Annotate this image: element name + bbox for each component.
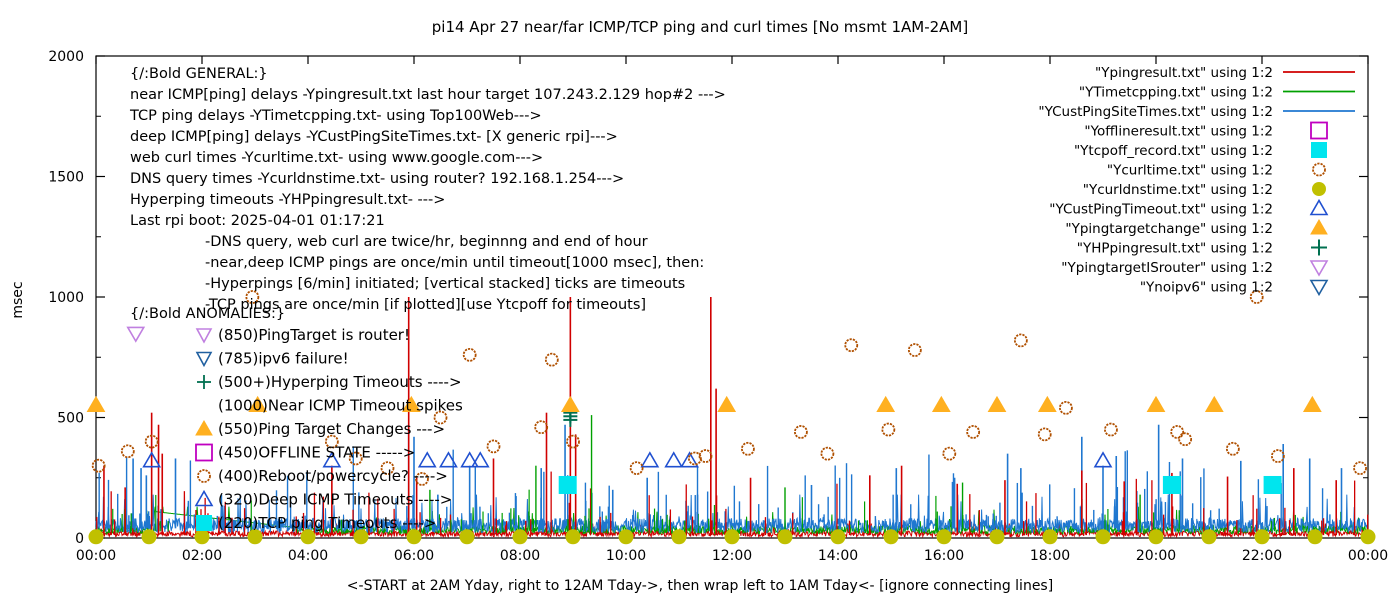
gnuplot-canvas: pi14 Apr 27 near/far ICMP/TCP ping and c… xyxy=(0,0,1400,600)
general-line-0: near ICMP[ping] delays -Ypingresult.txt … xyxy=(130,87,726,103)
x-tick-label: 10:00 xyxy=(606,548,646,564)
anomaly-icon-tcp-timeout xyxy=(196,515,212,531)
legend-label-3: "Yofflineresult.txt" using 1:2 xyxy=(1084,124,1273,140)
anomaly-label-2: (500+)Hyperping Timeouts ----> xyxy=(218,373,462,391)
marker-curl-time xyxy=(1105,424,1117,436)
marker-dns-time xyxy=(1255,530,1269,544)
x-axis-label: <-START at 2AM Yday, right to 12AM Tday-… xyxy=(347,578,1053,594)
x-tick-label: 06:00 xyxy=(394,548,434,564)
marker-dns-time xyxy=(1043,530,1057,544)
marker-deep-icmp-timeout xyxy=(666,453,682,467)
anomaly-label-8: (220)TCP ping Timeouts ----> xyxy=(218,514,436,532)
general-heading: {/:Bold GENERAL:} xyxy=(130,66,268,82)
marker-deep-icmp-timeout xyxy=(419,453,435,467)
marker-curl-time xyxy=(1179,433,1191,445)
marker-curl-time xyxy=(795,426,807,438)
marker-curl-time xyxy=(882,424,894,436)
marker-dns-time xyxy=(1202,530,1216,544)
marker-curl-time xyxy=(967,426,979,438)
legend-label-2: "YCustPingSiteTimes.txt" using 1:2 xyxy=(1038,104,1273,120)
marker-dns-time xyxy=(89,530,103,544)
legend-sample-triangle-down-open xyxy=(1311,261,1327,275)
anomaly-label-6: (400)Reboot/powercycle? ----> xyxy=(218,467,448,485)
marker-curl-time xyxy=(93,460,105,472)
anomaly-label-7: (320)Deep ICMP Timeouts ----> xyxy=(218,491,452,509)
marker-dns-time xyxy=(1096,530,1110,544)
marker-curl-time xyxy=(821,448,833,460)
marker-ping-target-change xyxy=(989,397,1005,411)
marker-dns-time xyxy=(566,530,580,544)
x-tick-label: 16:00 xyxy=(924,548,964,564)
marker-ping-target-change xyxy=(1304,397,1320,411)
marker-curl-time xyxy=(567,436,579,448)
anomaly-icon-target-change xyxy=(196,421,212,435)
general-line-2: deep ICMP[ping] delays -YCustPingSiteTim… xyxy=(130,129,618,145)
anomaly-icon-is-router xyxy=(197,329,211,342)
marker-curl-time xyxy=(464,349,476,361)
marker-dns-time xyxy=(831,530,845,544)
marker-tcp-ping-timeout xyxy=(1264,476,1282,494)
x-tick-label: 20:00 xyxy=(1136,548,1176,564)
legend-label-1: "YTimetcpping.txt" using 1:2 xyxy=(1079,85,1273,101)
general-detail-0: -DNS query, web curl are twice/hr, begin… xyxy=(205,234,648,250)
marker-dns-time xyxy=(619,530,633,544)
legend-sample-circle-filled xyxy=(1312,182,1326,196)
marker-curl-time xyxy=(1171,426,1183,438)
marker-dns-time xyxy=(725,530,739,544)
marker-ping-target-change xyxy=(1148,397,1164,411)
marker-curl-time xyxy=(1227,443,1239,455)
marker-deep-icmp-timeout xyxy=(1095,453,1111,467)
legend-label-6: "Ycurldnstime.txt" using 1:2 xyxy=(1083,182,1273,198)
anomaly-icon-offline xyxy=(196,445,212,461)
marker-dns-time xyxy=(672,530,686,544)
legend-label-4: "Ytcpoff_record.txt" using 1:2 xyxy=(1074,143,1273,159)
x-tick-label: 22:00 xyxy=(1242,548,1282,564)
marker-curl-time xyxy=(742,443,754,455)
legend-sample-square-filled xyxy=(1311,142,1327,158)
legend-label-8: "Ypingtargetchange" using 1:2 xyxy=(1065,221,1273,237)
general-line-4: DNS query times -Ycurldnstime.txt- using… xyxy=(130,171,624,187)
general-detail-1: -near,deep ICMP pings are once/min until… xyxy=(205,255,704,271)
legend-sample-square-open xyxy=(1311,123,1327,139)
anomaly-icon-no-ipv6 xyxy=(197,353,211,366)
legend-label-0: "Ypingresult.txt" using 1:2 xyxy=(1095,65,1273,81)
marker-curl-time xyxy=(1272,450,1284,462)
marker-ping-target-change xyxy=(719,397,735,411)
marker-dns-time xyxy=(513,530,527,544)
legend-label-9: "YHPpingresult.txt" using 1:2 xyxy=(1077,241,1273,257)
anomaly-icon-deep-timeout xyxy=(196,492,212,506)
marker-curl-time xyxy=(1039,428,1051,440)
anomaly-icon-reboot xyxy=(198,470,210,482)
marker-curl-time xyxy=(943,448,955,460)
y-tick-label: 0 xyxy=(75,531,84,547)
marker-dns-time xyxy=(937,530,951,544)
legend-label-5: "Ycurltime.txt" using 1:2 xyxy=(1107,163,1273,179)
marker-curl-time xyxy=(488,440,500,452)
anomaly-label-0: (850)PingTarget is router! xyxy=(218,326,410,344)
marker-ping-target-change xyxy=(1206,397,1222,411)
general-line-6: Last rpi boot: 2025-04-01 01:17:21 xyxy=(130,213,385,229)
x-tick-label: 18:00 xyxy=(1030,548,1070,564)
marker-curl-time xyxy=(546,354,558,366)
general-line-5: Hyperping timeouts -YHPpingresult.txt- -… xyxy=(130,192,445,208)
legend-sample-triangle-up-filled xyxy=(1311,220,1327,234)
legend-label-7: "YCustPingTimeout.txt" using 1:2 xyxy=(1049,202,1273,218)
x-tick-label: 00:00 xyxy=(1348,548,1388,564)
legend-label-10: "YpingtargetISrouter" using 1:2 xyxy=(1061,260,1273,276)
marker-ping-target-change xyxy=(562,397,578,411)
y-tick-label: 2000 xyxy=(48,49,84,65)
legend-sample-circle-open xyxy=(1313,164,1325,176)
marker-pingtarget-is-router xyxy=(128,327,144,341)
y-tick-label: 500 xyxy=(57,411,84,427)
chart-root: pi14 Apr 27 near/far ICMP/TCP ping and c… xyxy=(0,0,1400,600)
general-line-1: TCP ping delays -YTimetcpping.txt- using… xyxy=(129,108,542,124)
y-axis-label: msec xyxy=(10,281,26,318)
x-tick-label: 00:00 xyxy=(76,548,116,564)
marker-deep-icmp-timeout xyxy=(440,453,456,467)
marker-dns-time xyxy=(884,530,898,544)
marker-ping-target-change xyxy=(88,397,104,411)
legend-label-11: "Ynoipv6" using 1:2 xyxy=(1140,280,1273,296)
y-tick-label: 1000 xyxy=(48,290,84,306)
general-line-3: web curl times -Ycurltime.txt- using www… xyxy=(130,150,543,166)
anomaly-label-3: (1000)Near ICMP Timeout spikes xyxy=(218,397,463,415)
y-tick-label: 1500 xyxy=(48,170,84,186)
anomalies-heading: {/:Bold ANOMALIES:} xyxy=(130,306,285,322)
marker-dns-time xyxy=(1149,530,1163,544)
legend-sample-triangle-down-open xyxy=(1311,281,1327,295)
marker-curl-time xyxy=(631,462,643,474)
marker-curl-time xyxy=(1015,334,1027,346)
x-tick-label: 08:00 xyxy=(500,548,540,564)
marker-dns-time xyxy=(460,530,474,544)
marker-deep-icmp-timeout xyxy=(472,453,488,467)
legend-sample-triangle-up-open xyxy=(1311,201,1327,215)
x-tick-label: 02:00 xyxy=(182,548,222,564)
marker-curl-time xyxy=(909,344,921,356)
marker-dns-time xyxy=(195,530,209,544)
anomaly-label-4: (550)Ping Target Changes ---> xyxy=(218,420,445,438)
anomaly-label-5: (450)OFFLINE STATE -----> xyxy=(218,444,415,462)
marker-tcp-ping-timeout xyxy=(559,476,577,494)
marker-ping-target-change xyxy=(933,397,949,411)
marker-tcp-ping-timeout xyxy=(1163,476,1181,494)
marker-dns-time xyxy=(142,530,156,544)
marker-ping-target-change xyxy=(1039,397,1055,411)
x-tick-label: 12:00 xyxy=(712,548,752,564)
marker-dns-time xyxy=(990,530,1004,544)
marker-curl-time xyxy=(845,339,857,351)
x-tick-label: 04:00 xyxy=(288,548,328,564)
marker-dns-time xyxy=(778,530,792,544)
marker-dns-time xyxy=(1308,530,1322,544)
anomaly-label-1: (785)ipv6 failure! xyxy=(218,350,349,368)
marker-ping-target-change xyxy=(878,397,894,411)
marker-curl-time xyxy=(1060,402,1072,414)
chart-title: pi14 Apr 27 near/far ICMP/TCP ping and c… xyxy=(432,18,968,36)
general-detail-2: -Hyperpings [6/min] initiated; [vertical… xyxy=(205,276,685,292)
marker-deep-icmp-timeout xyxy=(642,453,658,467)
marker-curl-time xyxy=(1354,462,1366,474)
marker-curl-time xyxy=(535,421,547,433)
marker-deep-icmp-timeout xyxy=(462,453,478,467)
marker-curl-time xyxy=(122,445,134,457)
x-tick-label: 14:00 xyxy=(818,548,858,564)
marker-dns-time xyxy=(1361,530,1375,544)
